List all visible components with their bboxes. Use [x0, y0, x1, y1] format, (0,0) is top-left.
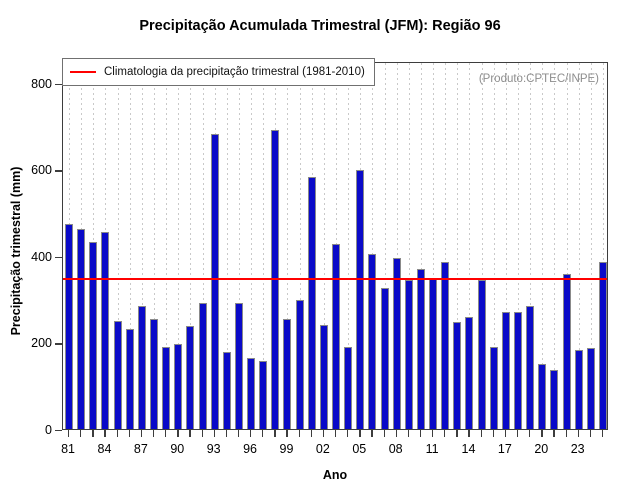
x-tick: [493, 430, 494, 437]
x-tick: [92, 430, 93, 437]
x-tick: [347, 430, 348, 437]
bar-1982: [77, 229, 85, 429]
bar-1983: [89, 242, 97, 429]
x-tick: [396, 430, 397, 437]
bar-1990: [174, 344, 182, 429]
x-tick-label: 96: [243, 442, 257, 456]
x-tick: [468, 430, 469, 437]
bar-2017: [502, 312, 510, 429]
bar-1989: [162, 347, 170, 429]
x-tick: [177, 430, 178, 437]
bar-2003: [332, 244, 340, 429]
x-tick: [505, 430, 506, 437]
bar-2021: [550, 370, 558, 429]
bar-2016: [490, 347, 498, 429]
bar-2013: [453, 322, 461, 429]
bar-1981: [65, 224, 73, 429]
y-tick-label: 0: [45, 423, 52, 437]
x-tick: [311, 430, 312, 437]
bar-2002: [320, 325, 328, 429]
x-tick: [432, 430, 433, 437]
bar-2001: [308, 177, 316, 429]
x-tick: [129, 430, 130, 437]
bar-1991: [186, 326, 194, 429]
bar-1992: [199, 303, 207, 429]
x-tick: [371, 430, 372, 437]
x-tick: [553, 430, 554, 437]
x-tick: [68, 430, 69, 437]
bar-2015: [478, 280, 486, 429]
bar-1988: [150, 319, 158, 429]
x-axis: 818487909396990205081114172023 Ano: [62, 430, 608, 500]
bar-1987: [138, 306, 146, 429]
x-tick: [238, 430, 239, 437]
x-tick: [286, 430, 287, 437]
x-tick: [80, 430, 81, 437]
x-tick: [590, 430, 591, 437]
x-tick: [384, 430, 385, 437]
x-tick-label: 81: [61, 442, 75, 456]
x-tick-label: 84: [98, 442, 112, 456]
y-tick: [55, 84, 62, 85]
bar-1984: [101, 232, 109, 429]
bar-2018: [514, 312, 522, 429]
x-tick-label: 05: [352, 442, 366, 456]
x-tick: [226, 430, 227, 437]
bar-2020: [538, 364, 546, 429]
y-axis-title: Precipitação trimestral (mm): [9, 96, 23, 406]
x-tick: [359, 430, 360, 437]
x-tick: [420, 430, 421, 437]
x-tick-label: 14: [462, 442, 476, 456]
bar-1986: [126, 329, 134, 429]
x-tick-label: 08: [389, 442, 403, 456]
y-tick-label: 200: [31, 336, 52, 350]
x-tick: [408, 430, 409, 437]
bar-1999: [283, 319, 291, 429]
chart-legend: Climatologia da precipitação trimestral …: [62, 58, 375, 86]
x-tick: [299, 430, 300, 437]
x-tick: [444, 430, 445, 437]
bar-2007: [381, 288, 389, 429]
bar-2004: [344, 347, 352, 429]
bar-2024: [587, 348, 595, 429]
x-tick: [189, 430, 190, 437]
x-tick: [262, 430, 263, 437]
x-tick: [578, 430, 579, 437]
bar-1995: [235, 303, 243, 429]
bar-2022: [563, 274, 571, 429]
x-tick: [566, 430, 567, 437]
plot-inner: [63, 63, 607, 429]
y-tick: [55, 170, 62, 171]
bar-2011: [429, 279, 437, 429]
bar-undefined: [599, 262, 607, 429]
x-tick: [104, 430, 105, 437]
x-tick: [141, 430, 142, 437]
y-tick-label: 600: [31, 163, 52, 177]
y-tick: [55, 257, 62, 258]
y-tick-label: 800: [31, 77, 52, 91]
legend-line-swatch-icon: [70, 71, 96, 73]
bar-2023: [575, 350, 583, 429]
x-tick: [541, 430, 542, 437]
x-tick-label: 99: [280, 442, 294, 456]
chart-root: Precipitação Acumulada Trimestral (JFM):…: [0, 0, 640, 500]
x-tick: [117, 430, 118, 437]
bar-2005: [356, 170, 364, 429]
bar-2019: [526, 306, 534, 429]
x-tick-label: 20: [534, 442, 548, 456]
x-axis-title: Ano: [62, 468, 608, 482]
bar-1985: [114, 321, 122, 429]
bar-1994: [223, 352, 231, 429]
bar-1997: [259, 361, 267, 429]
bar-2008: [393, 258, 401, 429]
x-tick-label: 93: [207, 442, 221, 456]
produto-annotation: (Produto:CPTEC/INPE): [479, 73, 599, 85]
x-tick: [335, 430, 336, 437]
x-tick: [517, 430, 518, 437]
x-tick-label: 87: [134, 442, 148, 456]
bar-2010: [417, 269, 425, 429]
bar-2009: [405, 280, 413, 429]
x-tick-label: 90: [170, 442, 184, 456]
x-tick: [250, 430, 251, 437]
chart-title: Precipitação Acumulada Trimestral (JFM):…: [0, 18, 640, 34]
climatology-reference-line: [63, 278, 607, 280]
x-tick: [529, 430, 530, 437]
y-tick: [55, 430, 62, 431]
bar-2000: [296, 300, 304, 429]
x-tick-label: 23: [571, 442, 585, 456]
x-tick: [202, 430, 203, 437]
x-tick: [153, 430, 154, 437]
bar-1996: [247, 358, 255, 429]
y-axis: Precipitação trimestral (mm) 02004006008…: [0, 62, 62, 430]
bar-1993: [211, 134, 219, 429]
x-tick: [274, 430, 275, 437]
y-tick: [55, 343, 62, 344]
x-tick: [481, 430, 482, 437]
x-tick: [323, 430, 324, 437]
x-tick: [602, 430, 603, 437]
x-tick: [165, 430, 166, 437]
bar-2012: [441, 262, 449, 429]
y-tick-label: 400: [31, 250, 52, 264]
x-tick-label: 17: [498, 442, 512, 456]
plot-area: (Produto:CPTEC/INPE): [62, 62, 608, 430]
x-tick-label: 11: [426, 442, 439, 456]
legend-item-label: Climatologia da precipitação trimestral …: [104, 66, 365, 78]
x-tick: [214, 430, 215, 437]
bar-2014: [465, 317, 473, 429]
x-tick-label: 02: [316, 442, 330, 456]
x-tick: [456, 430, 457, 437]
